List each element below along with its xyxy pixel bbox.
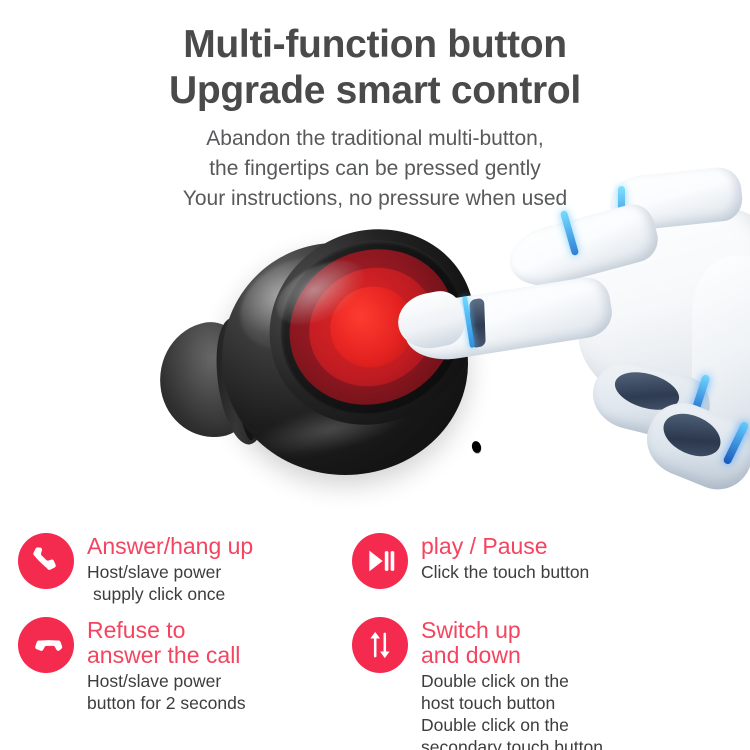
feature-description-line: Double click on the — [421, 714, 603, 736]
robotic-hand-image — [396, 160, 750, 520]
feature-list: Answer/hang up Host/slave power supply c… — [0, 520, 750, 750]
page-title: Multi-function button Upgrade smart cont… — [0, 22, 750, 114]
feature-description: Host/slave power supply click once — [87, 561, 253, 605]
phone-call-icon — [18, 533, 74, 589]
product-scene — [0, 205, 750, 515]
feature-title-line: Switch up — [421, 618, 603, 643]
feature-description-line: host touch button — [421, 692, 603, 714]
feature-refuse-call: Refuse to answer the call Host/slave pow… — [18, 617, 246, 714]
page-title-line-1: Multi-function button — [183, 23, 567, 66]
feature-answer-hang-up: Answer/hang up Host/slave power supply c… — [18, 533, 253, 605]
product-infographic: Multi-function button Upgrade smart cont… — [0, 0, 750, 750]
page-title-line-2: Upgrade smart control — [0, 68, 750, 114]
phone-hangup-icon — [18, 617, 74, 673]
feature-title: Refuse to answer the call — [87, 618, 246, 668]
feature-description: Double click on the host touch button Do… — [421, 670, 603, 750]
feature-description-line: button for 2 seconds — [87, 692, 246, 714]
feature-description-line: supply click once — [87, 583, 253, 605]
feature-title-line: answer the call — [87, 643, 246, 668]
feature-text: play / Pause Click the touch button — [421, 533, 589, 583]
feature-title: Answer/hang up — [87, 534, 253, 559]
feature-text: Switch up and down Double click on the h… — [421, 617, 603, 750]
feature-description-line: Double click on the — [421, 670, 603, 692]
feature-title-line: Refuse to — [87, 618, 246, 643]
feature-title-line: and down — [421, 643, 603, 668]
arrows-up-down-icon — [352, 617, 408, 673]
feature-description-line: Host/slave power — [87, 561, 253, 583]
feature-description: Host/slave power button for 2 seconds — [87, 670, 246, 714]
feature-switch-up-down: Switch up and down Double click on the h… — [352, 617, 603, 750]
feature-description-line: Click the touch button — [421, 561, 589, 583]
feature-title: Switch up and down — [421, 618, 603, 668]
page-subtitle-line-1: Abandon the traditional multi-button, — [0, 124, 750, 154]
feature-text: Answer/hang up Host/slave power supply c… — [87, 533, 253, 605]
feature-title: play / Pause — [421, 534, 589, 559]
feature-description-line: Host/slave power — [87, 670, 246, 692]
feature-play-pause: play / Pause Click the touch button — [352, 533, 589, 589]
feature-text: Refuse to answer the call Host/slave pow… — [87, 617, 246, 714]
play-pause-icon — [352, 533, 408, 589]
feature-description: Click the touch button — [421, 561, 589, 583]
feature-description-line: secondary touch button — [421, 736, 603, 750]
